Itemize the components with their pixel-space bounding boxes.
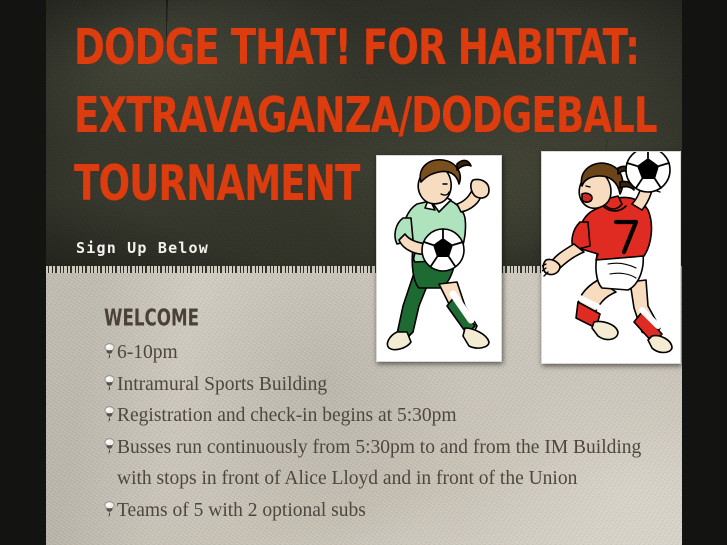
push-pin-icon bbox=[103, 375, 116, 393]
list-item-text: Teams of 5 with 2 optional subs bbox=[117, 500, 366, 521]
list-item: Teams of 5 with 2 optional subs bbox=[104, 495, 674, 527]
poster-page: DODGE THAT! FOR HABITAT: EXTRAVAGANZA/DO… bbox=[0, 0, 727, 545]
soccer-player-green-clipart bbox=[376, 155, 502, 362]
list-item-text: Busses run continuously from 5:30pm to a… bbox=[117, 437, 641, 490]
welcome-heading: WELCOME bbox=[104, 305, 606, 332]
sign-up-below-label[interactable]: Sign Up Below bbox=[76, 239, 209, 257]
left-margin bbox=[0, 0, 46, 545]
list-item-text: Registration and check-in begins at 5:30… bbox=[117, 405, 457, 426]
push-pin-icon bbox=[103, 343, 116, 361]
list-item: Busses run continuously from 5:30pm to a… bbox=[104, 432, 674, 495]
info-list: 6-10pm Intramural Sports Building bbox=[104, 337, 674, 526]
right-margin bbox=[682, 0, 727, 545]
push-pin-icon bbox=[103, 438, 116, 456]
list-item-text: 6-10pm bbox=[117, 342, 178, 363]
push-pin-icon bbox=[103, 501, 116, 519]
list-item: Intramural Sports Building bbox=[104, 369, 674, 401]
ball-thrower-red-clipart bbox=[541, 151, 681, 364]
list-item-text: Intramural Sports Building bbox=[117, 374, 327, 395]
poster-content-column: DODGE THAT! FOR HABITAT: EXTRAVAGANZA/DO… bbox=[46, 0, 682, 545]
list-item: Registration and check-in begins at 5:30… bbox=[104, 400, 674, 432]
push-pin-icon bbox=[103, 406, 116, 424]
